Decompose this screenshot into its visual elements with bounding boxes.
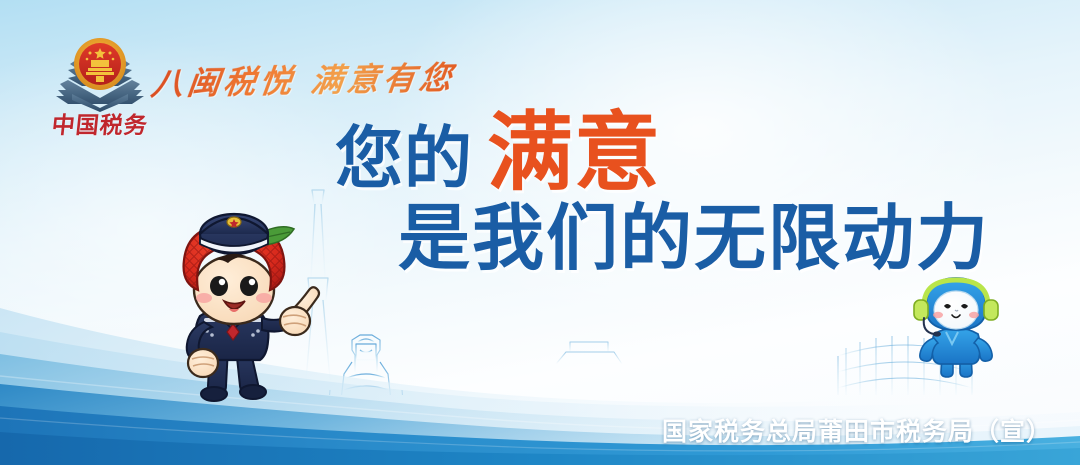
headset-service-mascot <box>900 272 1012 380</box>
emblem-block: 中国税务 <box>46 32 154 152</box>
emblem-caption: 中国税务 <box>44 106 156 140</box>
lychee-tax-officer-mascot <box>140 198 330 403</box>
china-tax-emblem-icon <box>46 32 154 112</box>
issuing-authority-label: 国家税务总局莆田市税务局（宣） <box>662 412 1052 448</box>
tax-promo-banner: 莆 田 <box>0 0 1080 465</box>
secondary-slogan: 八闽税悦 满意有您 <box>149 53 458 105</box>
